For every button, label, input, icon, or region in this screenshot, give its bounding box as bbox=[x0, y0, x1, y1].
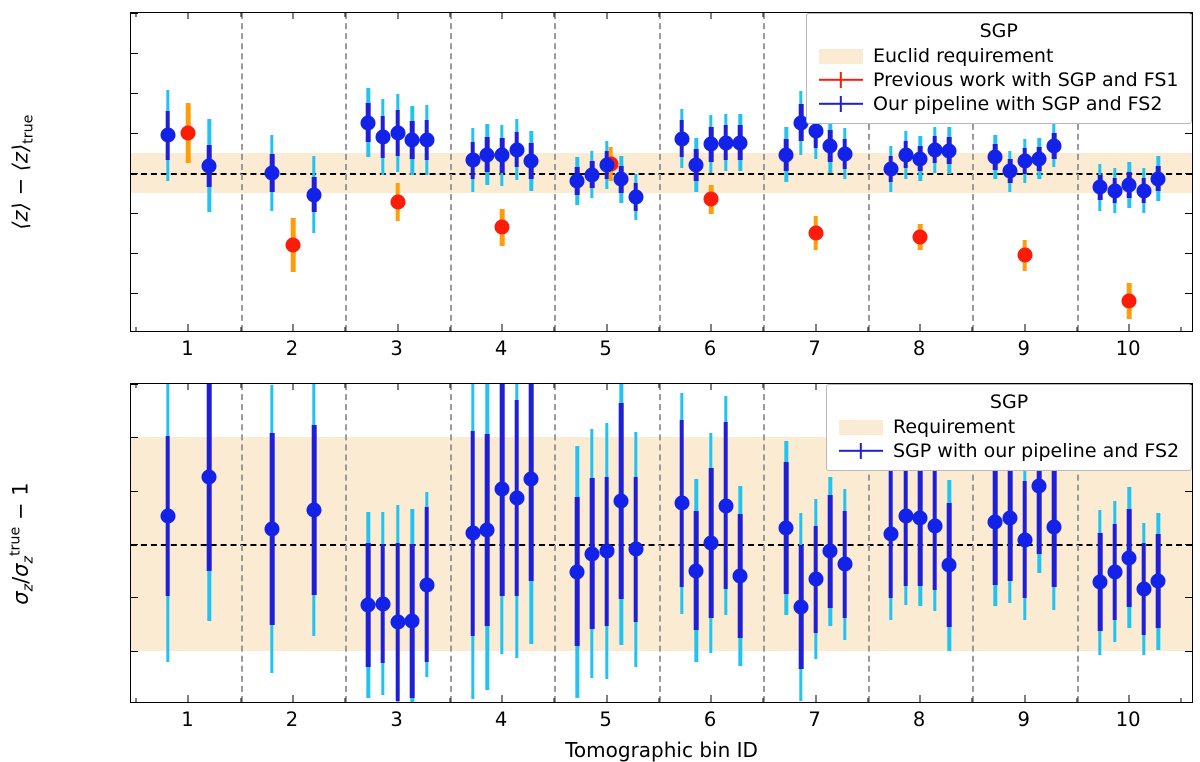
data-point-marker bbox=[570, 174, 585, 189]
x-minor-tick-mark bbox=[449, 384, 450, 388]
data-point-marker bbox=[599, 158, 614, 173]
y-tick-mark bbox=[1185, 133, 1192, 134]
x-tick-label: 1 bbox=[181, 337, 193, 360]
x-tick-mark bbox=[920, 324, 921, 331]
data-point-marker bbox=[837, 146, 852, 161]
legend-bottom-title: SGP bbox=[839, 391, 1179, 413]
legend-top: SGP Euclid requirement Previous work wit… bbox=[806, 13, 1192, 124]
data-point-marker bbox=[1017, 248, 1032, 263]
data-point-marker bbox=[689, 563, 704, 578]
x-tick-label: 8 bbox=[913, 708, 925, 731]
x-tick-label: 6 bbox=[704, 337, 716, 360]
data-point-marker bbox=[779, 147, 794, 162]
data-point-marker bbox=[1032, 151, 1047, 166]
legend-top-item-label: Our pipeline with SGP and FS2 bbox=[873, 93, 1162, 115]
legend-bottom-item-label: SGP with our pipeline and FS2 bbox=[893, 440, 1179, 462]
data-point-marker bbox=[733, 135, 748, 150]
bin-separator-line bbox=[659, 13, 661, 331]
errorbar-swatch-icon bbox=[819, 72, 863, 88]
data-point-marker bbox=[524, 154, 539, 169]
x-tick-label: 6 bbox=[704, 708, 716, 731]
bin-separator-line bbox=[345, 13, 347, 331]
bin-separator-line bbox=[554, 13, 556, 331]
x-tick-label: 2 bbox=[286, 708, 298, 731]
data-point-marker bbox=[375, 596, 390, 611]
x-tick-label: 10 bbox=[1116, 708, 1141, 731]
legend-top-title: SGP bbox=[819, 20, 1179, 42]
y-tick-label: 0.10 bbox=[130, 426, 131, 449]
y-tick-mark bbox=[1185, 173, 1192, 174]
data-point-marker bbox=[942, 143, 957, 158]
y-tick-label: −0.010 bbox=[130, 242, 131, 265]
x-tick-mark bbox=[1129, 695, 1130, 702]
x-tick-mark bbox=[711, 695, 712, 702]
bottom-axis-ylabel: σz/σztrue − 1 bbox=[8, 482, 37, 604]
data-point-marker bbox=[361, 115, 376, 130]
y-tick-mark bbox=[131, 13, 138, 14]
x-tick-label: 4 bbox=[495, 708, 507, 731]
x-minor-tick-mark bbox=[449, 698, 450, 702]
x-minor-tick-mark bbox=[554, 327, 555, 331]
data-point-marker bbox=[202, 158, 217, 173]
x-tick-mark bbox=[815, 384, 816, 390]
data-point-marker bbox=[419, 133, 434, 148]
data-point-marker bbox=[614, 172, 629, 187]
data-point-marker bbox=[495, 481, 510, 496]
data-point-marker bbox=[704, 535, 719, 550]
x-minor-tick-mark bbox=[240, 698, 241, 702]
data-point-marker bbox=[509, 491, 524, 506]
data-point-marker bbox=[823, 138, 838, 153]
y-tick-mark bbox=[131, 544, 138, 545]
x-minor-tick-mark bbox=[240, 327, 241, 331]
y-tick-label: −0.005 bbox=[130, 202, 131, 225]
data-point-marker bbox=[674, 496, 689, 511]
data-point-marker bbox=[405, 613, 420, 628]
data-point-marker bbox=[584, 546, 599, 561]
y-tick-label: 0.15 bbox=[130, 383, 131, 396]
data-point-marker bbox=[419, 577, 434, 592]
data-point-marker bbox=[913, 511, 928, 526]
legend-top-item-euclid-requirement: Euclid requirement bbox=[819, 45, 1179, 67]
data-point-marker bbox=[1032, 479, 1047, 494]
x-tick-mark bbox=[397, 324, 398, 331]
y-tick-mark bbox=[1185, 491, 1192, 492]
x-tick-mark bbox=[606, 13, 607, 19]
data-point-marker bbox=[480, 147, 495, 162]
x-minor-tick-mark bbox=[345, 698, 346, 702]
y-tick-label: 0.005 bbox=[130, 122, 131, 145]
y-tick-label: −0.05 bbox=[130, 586, 131, 609]
data-point-marker bbox=[1092, 180, 1107, 195]
data-point-marker bbox=[927, 518, 942, 533]
data-point-marker bbox=[837, 557, 852, 572]
data-point-marker bbox=[202, 469, 217, 484]
x-minor-tick-mark bbox=[1076, 327, 1077, 331]
x-tick-mark bbox=[502, 324, 503, 331]
legend-top-item-previous-work: Previous work with SGP and FS1 bbox=[819, 69, 1179, 91]
x-tick-label: 9 bbox=[1017, 708, 1029, 731]
data-point-marker bbox=[808, 572, 823, 587]
y-tick-mark bbox=[1185, 213, 1192, 214]
band-swatch-icon bbox=[819, 49, 863, 64]
data-point-marker bbox=[495, 220, 510, 235]
x-minor-tick-mark bbox=[345, 384, 346, 388]
x-axis-label: Tomographic bin ID bbox=[565, 738, 758, 762]
y-tick-label: 0.020 bbox=[130, 12, 131, 25]
x-minor-tick-mark bbox=[554, 698, 555, 702]
x-minor-tick-mark bbox=[136, 698, 137, 702]
y-tick-label: −0.15 bbox=[130, 693, 131, 704]
x-tick-label: 9 bbox=[1017, 337, 1029, 360]
x-tick-mark bbox=[188, 13, 189, 19]
data-point-marker bbox=[265, 522, 280, 537]
x-tick-mark bbox=[711, 324, 712, 331]
data-point-marker bbox=[160, 128, 175, 143]
x-minor-tick-mark bbox=[240, 384, 241, 388]
data-point-marker bbox=[1122, 550, 1137, 565]
data-point-marker bbox=[883, 527, 898, 542]
errorbar-swatch-icon bbox=[839, 443, 883, 459]
data-point-marker bbox=[306, 187, 321, 202]
legend-bottom-item-requirement: Requirement bbox=[839, 416, 1179, 438]
data-point-marker bbox=[361, 597, 376, 612]
legend-bottom-item-label: Requirement bbox=[893, 416, 1015, 438]
x-minor-tick-mark bbox=[972, 698, 973, 702]
data-point-marker bbox=[480, 523, 495, 538]
x-minor-tick-mark bbox=[1181, 698, 1182, 702]
data-point-marker bbox=[808, 123, 823, 138]
y-tick-mark bbox=[131, 173, 138, 174]
x-minor-tick-mark bbox=[449, 327, 450, 331]
y-tick-mark bbox=[131, 651, 138, 652]
data-point-marker bbox=[1003, 164, 1018, 179]
data-point-marker bbox=[160, 509, 175, 524]
bin-separator-line bbox=[450, 384, 452, 702]
x-minor-tick-mark bbox=[763, 13, 764, 17]
data-point-marker bbox=[495, 148, 510, 163]
x-tick-mark bbox=[1129, 324, 1130, 331]
data-point-marker bbox=[704, 137, 719, 152]
data-point-marker bbox=[883, 162, 898, 177]
x-tick-mark bbox=[397, 13, 398, 19]
x-tick-label: 7 bbox=[808, 708, 820, 731]
data-point-marker bbox=[390, 126, 405, 141]
x-tick-mark bbox=[188, 695, 189, 702]
y-tick-mark bbox=[131, 491, 138, 492]
data-point-marker bbox=[524, 471, 539, 486]
y-tick-label: −0.015 bbox=[130, 282, 131, 305]
x-tick-mark bbox=[711, 384, 712, 390]
data-point-marker bbox=[942, 558, 957, 573]
x-minor-tick-mark bbox=[867, 698, 868, 702]
x-minor-tick-mark bbox=[554, 13, 555, 17]
data-point-marker bbox=[614, 494, 629, 509]
x-tick-label: 3 bbox=[390, 337, 402, 360]
x-minor-tick-mark bbox=[763, 327, 764, 331]
x-tick-label: 7 bbox=[808, 337, 820, 360]
x-tick-mark bbox=[711, 13, 712, 19]
x-minor-tick-mark bbox=[136, 327, 137, 331]
y-tick-mark bbox=[1185, 651, 1192, 652]
x-minor-tick-mark bbox=[658, 698, 659, 702]
data-point-marker bbox=[898, 509, 913, 524]
data-point-marker bbox=[1136, 183, 1151, 198]
y-tick-mark bbox=[1185, 253, 1192, 254]
x-minor-tick-mark bbox=[449, 13, 450, 17]
x-tick-mark bbox=[1024, 324, 1025, 331]
bin-separator-line bbox=[241, 384, 243, 702]
errorbar-swatch-icon bbox=[819, 96, 863, 112]
x-tick-mark bbox=[606, 324, 607, 331]
data-point-marker bbox=[1092, 575, 1107, 590]
x-minor-tick-mark bbox=[554, 384, 555, 388]
y-tick-mark bbox=[131, 253, 138, 254]
y-tick-label: 0.00 bbox=[130, 533, 131, 556]
y-tick-label: 0.05 bbox=[130, 479, 131, 502]
data-point-marker bbox=[570, 564, 585, 579]
x-minor-tick-mark bbox=[658, 13, 659, 17]
bin-separator-line bbox=[554, 384, 556, 702]
y-tick-mark bbox=[131, 213, 138, 214]
legend-top-item-label: Previous work with SGP and FS1 bbox=[873, 69, 1179, 91]
x-minor-tick-mark bbox=[136, 13, 137, 17]
x-tick-mark bbox=[606, 384, 607, 390]
x-tick-mark bbox=[502, 695, 503, 702]
data-point-marker bbox=[405, 133, 420, 148]
x-minor-tick-mark bbox=[867, 327, 868, 331]
data-point-marker bbox=[306, 502, 321, 517]
x-tick-label: 8 bbox=[913, 337, 925, 360]
data-point-marker bbox=[1046, 138, 1061, 153]
legend-bottom-item-sgp-pipeline: SGP with our pipeline and FS2 bbox=[839, 440, 1179, 462]
bin-separator-line bbox=[763, 13, 765, 331]
y-tick-mark bbox=[1185, 293, 1192, 294]
y-tick-label: 0.010 bbox=[130, 82, 131, 105]
data-point-marker bbox=[927, 142, 942, 157]
data-point-marker bbox=[584, 167, 599, 182]
legend-top-item-our-pipeline: Our pipeline with SGP and FS2 bbox=[819, 93, 1179, 115]
bin-separator-line bbox=[450, 13, 452, 331]
x-tick-label: 2 bbox=[286, 337, 298, 360]
data-point-marker bbox=[1122, 294, 1137, 309]
x-minor-tick-mark bbox=[972, 327, 973, 331]
data-point-marker bbox=[898, 147, 913, 162]
x-minor-tick-mark bbox=[136, 384, 137, 388]
x-minor-tick-mark bbox=[658, 327, 659, 331]
x-minor-tick-mark bbox=[1181, 327, 1182, 331]
zero-reference-line bbox=[131, 173, 1192, 175]
legend-top-item-label: Euclid requirement bbox=[873, 45, 1053, 67]
data-point-marker bbox=[599, 544, 614, 559]
x-tick-mark bbox=[606, 695, 607, 702]
x-tick-mark bbox=[188, 384, 189, 390]
y-tick-mark bbox=[131, 293, 138, 294]
x-minor-tick-mark bbox=[240, 13, 241, 17]
y-tick-mark bbox=[131, 53, 138, 54]
data-point-marker bbox=[1151, 171, 1166, 186]
x-tick-mark bbox=[920, 695, 921, 702]
data-point-marker bbox=[628, 190, 643, 205]
x-minor-tick-mark bbox=[763, 384, 764, 388]
x-minor-tick-mark bbox=[1076, 698, 1077, 702]
bin-separator-line bbox=[241, 13, 243, 331]
y-tick-label: −0.020 bbox=[130, 322, 131, 333]
data-point-marker bbox=[988, 150, 1003, 165]
data-point-marker bbox=[181, 126, 196, 141]
y-tick-label: −0.10 bbox=[130, 639, 131, 662]
x-tick-mark bbox=[293, 384, 294, 390]
bin-separator-line bbox=[345, 384, 347, 702]
x-tick-mark bbox=[502, 13, 503, 19]
bin-separator-line bbox=[763, 384, 765, 702]
data-point-marker bbox=[793, 599, 808, 614]
data-point-marker bbox=[265, 166, 280, 181]
data-point-marker bbox=[1017, 532, 1032, 547]
data-point-marker bbox=[1151, 574, 1166, 589]
data-point-marker bbox=[628, 542, 643, 557]
data-point-marker bbox=[1136, 581, 1151, 596]
data-point-marker bbox=[689, 158, 704, 173]
x-minor-tick-mark bbox=[763, 698, 764, 702]
x-tick-mark bbox=[293, 695, 294, 702]
x-tick-label: 5 bbox=[599, 708, 611, 731]
y-tick-mark bbox=[131, 597, 138, 598]
data-point-marker bbox=[286, 238, 301, 253]
data-point-marker bbox=[704, 192, 719, 207]
x-tick-mark bbox=[815, 324, 816, 331]
data-point-marker bbox=[988, 514, 1003, 529]
y-tick-mark bbox=[131, 133, 138, 134]
x-tick-label: 3 bbox=[390, 708, 402, 731]
y-tick-mark bbox=[131, 437, 138, 438]
x-tick-mark bbox=[397, 384, 398, 390]
legend-bottom: SGP Requirement SGP with our pipeline an… bbox=[826, 384, 1192, 471]
data-point-marker bbox=[779, 521, 794, 536]
data-point-marker bbox=[1107, 183, 1122, 198]
y-tick-mark bbox=[1185, 544, 1192, 545]
x-minor-tick-mark bbox=[658, 384, 659, 388]
y-tick-mark bbox=[1185, 597, 1192, 598]
x-tick-mark bbox=[293, 324, 294, 331]
data-point-marker bbox=[718, 498, 733, 513]
data-point-marker bbox=[1046, 519, 1061, 534]
figure-root: 0.0200.0150.0100.0050.000−0.005−0.010−0.… bbox=[0, 0, 1200, 762]
top-axis-ylabel: ⟨z⟩ − ⟨z⟩true bbox=[8, 115, 36, 230]
x-tick-mark bbox=[188, 324, 189, 331]
x-minor-tick-mark bbox=[345, 327, 346, 331]
data-point-marker bbox=[465, 526, 480, 541]
data-point-marker bbox=[1107, 564, 1122, 579]
data-point-marker bbox=[913, 230, 928, 245]
x-tick-label: 5 bbox=[599, 337, 611, 360]
x-minor-tick-mark bbox=[345, 13, 346, 17]
data-point-marker bbox=[733, 569, 748, 584]
data-point-marker bbox=[390, 614, 405, 629]
data-point-marker bbox=[375, 130, 390, 145]
band-swatch-icon bbox=[839, 420, 883, 435]
y-tick-label: 0.000 bbox=[130, 162, 131, 185]
data-point-marker bbox=[674, 131, 689, 146]
data-point-marker bbox=[808, 226, 823, 241]
data-point-marker bbox=[390, 194, 405, 209]
zero-reference-line bbox=[131, 544, 1192, 546]
data-point-marker bbox=[823, 544, 838, 559]
y-tick-label: 0.015 bbox=[130, 42, 131, 65]
data-point-marker bbox=[465, 153, 480, 168]
data-point-marker bbox=[913, 151, 928, 166]
data-point-marker bbox=[509, 142, 524, 157]
data-point-marker bbox=[1003, 511, 1018, 526]
x-tick-mark bbox=[815, 695, 816, 702]
bin-separator-line bbox=[659, 384, 661, 702]
y-tick-mark bbox=[131, 384, 138, 385]
x-tick-label: 10 bbox=[1116, 337, 1141, 360]
y-tick-mark bbox=[131, 93, 138, 94]
x-tick-label: 1 bbox=[181, 708, 193, 731]
x-tick-label: 4 bbox=[495, 337, 507, 360]
data-point-marker bbox=[1122, 178, 1137, 193]
data-point-marker bbox=[718, 135, 733, 150]
x-tick-mark bbox=[293, 13, 294, 19]
x-tick-mark bbox=[1024, 695, 1025, 702]
data-point-marker bbox=[1017, 154, 1032, 169]
